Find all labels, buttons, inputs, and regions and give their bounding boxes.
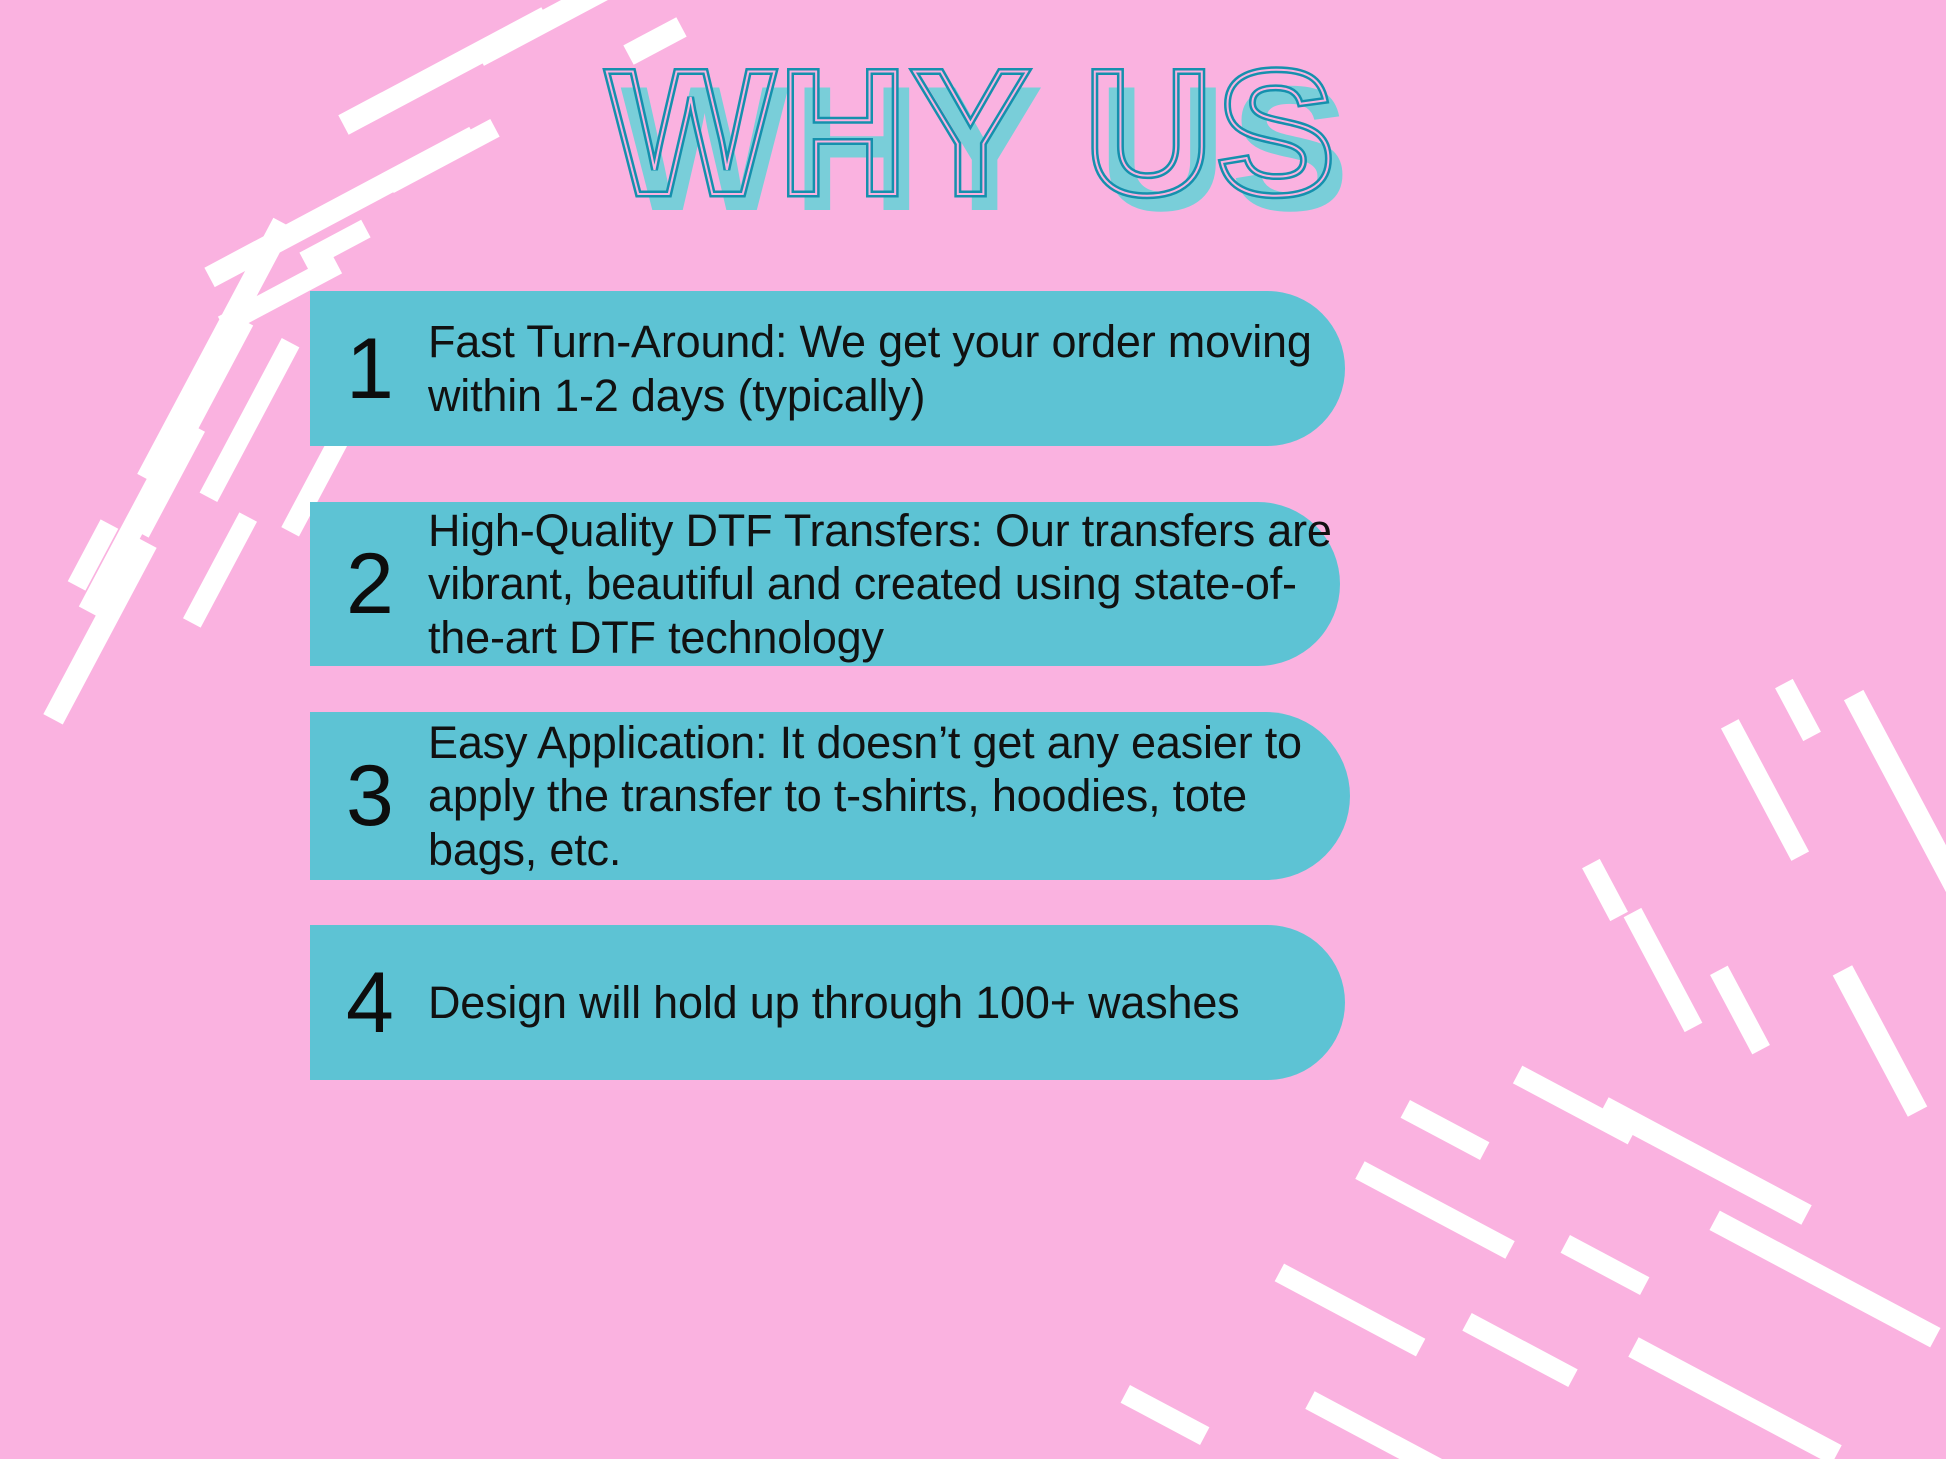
benefit-card-2: 2 High-Quality DTF Transfers: Our transf… [310, 502, 1340, 666]
benefit-number-4: 4 [346, 960, 424, 1046]
benefit-number-1: 1 [346, 326, 424, 412]
benefit-text-3: Easy Application: It doesn’t get any eas… [424, 716, 1350, 875]
stripe-bottom-right [1305, 1391, 1464, 1459]
stripe-bottom-right [1513, 1066, 1637, 1145]
stripe-bottom-right [1355, 1161, 1514, 1258]
stripe-bottom-right [1775, 679, 1821, 741]
benefit-text-1: Fast Turn-Around: We get your order movi… [424, 315, 1345, 421]
benefit-number-3: 3 [346, 753, 424, 839]
stripe-bottom-right [1275, 1264, 1426, 1357]
stripe-bottom-right [1462, 1313, 1577, 1387]
stripe-bottom-right [1628, 1337, 1841, 1459]
stripe-top-left [183, 512, 257, 627]
stripe-top-left [200, 338, 300, 502]
stripe-bottom-right [1561, 1235, 1650, 1295]
title-inner-layer: WHY US [0, 44, 1946, 222]
stripe-bottom-right [1833, 965, 1928, 1117]
benefit-card-4: 4 Design will hold up through 100+ washe… [310, 925, 1345, 1080]
stripe-bottom-right [1709, 1211, 1940, 1348]
stripe-top-left [43, 538, 156, 725]
stripe-bottom-right [1121, 1385, 1210, 1445]
stripe-bottom-right [1844, 690, 1946, 912]
stripe-top-left [79, 315, 253, 617]
stripe-bottom-right [1598, 1097, 1811, 1224]
stripe-top-left [68, 519, 119, 590]
benefit-text-4: Design will hold up through 100+ washes [424, 976, 1239, 1029]
stripe-top-left [137, 218, 293, 484]
benefit-card-1: 1 Fast Turn-Around: We get your order mo… [310, 291, 1345, 446]
stripe-bottom-right [1710, 966, 1770, 1055]
benefit-card-3: 3 Easy Application: It doesn’t get any e… [310, 712, 1350, 880]
poster-canvas: WHY US WHY US WHY US 1 Fast Turn-Around:… [0, 0, 1946, 1459]
benefit-text-2: High-Quality DTF Transfers: Our transfer… [424, 504, 1340, 663]
stripe-bottom-right [1721, 719, 1809, 861]
stripe-top-left [131, 422, 205, 537]
stripe-bottom-right [1401, 1100, 1490, 1160]
page-title: WHY US WHY US WHY US [0, 44, 1946, 234]
stripe-bottom-right [1624, 908, 1703, 1032]
stripe-bottom-right [1582, 859, 1628, 921]
benefit-number-2: 2 [346, 541, 424, 627]
